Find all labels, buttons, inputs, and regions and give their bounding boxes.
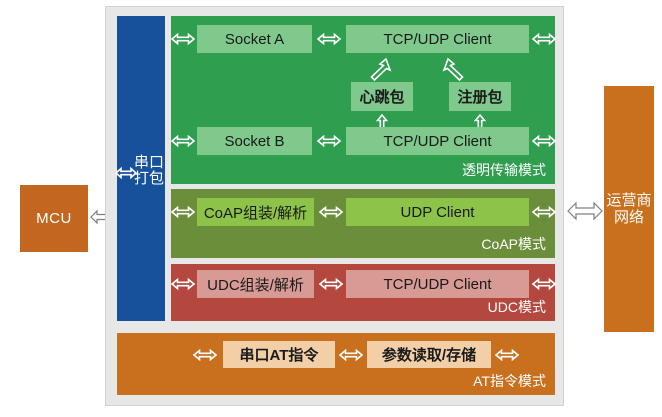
arrow-client-top-to-network — [532, 32, 556, 46]
panel-transparent-mode: Socket A TCP/UDP Client — [171, 16, 555, 184]
serial-label-line1: 串口 — [134, 155, 164, 171]
udc-mode-label: UDC模式 — [488, 297, 546, 317]
arrow-client-to-heartbeat — [367, 57, 393, 83]
mcu-label: MCU — [36, 210, 72, 227]
arrow-udp-client-to-network — [532, 205, 556, 219]
panel-coap-mode: CoAP组装/解析 UDP Client CoAP模式 — [171, 189, 555, 258]
at-mode-label: AT指令模式 — [473, 371, 546, 391]
coap-mode-label: CoAP模式 — [481, 234, 546, 254]
arrow-module-to-operator — [567, 199, 603, 223]
heartbeat-packet-box[interactable]: 心跳包 — [351, 82, 413, 111]
operator-network-node: 运营商 网络 — [604, 86, 654, 332]
tcp-udp-client-udc-label: TCP/UDP Client — [383, 276, 491, 293]
register-packet-box[interactable]: 注册包 — [449, 82, 511, 111]
serial-label-line2: 打包 — [134, 171, 164, 187]
udp-client-label: UDP Client — [401, 204, 475, 221]
tcp-udp-client-top-box[interactable]: TCP/UDP Client — [346, 25, 529, 53]
udp-client-box[interactable]: UDP Client — [346, 198, 529, 226]
tcp-udp-client-udc-box[interactable]: TCP/UDP Client — [346, 270, 529, 298]
arrow-param-out — [495, 348, 519, 362]
socket-b-label: Socket B — [224, 133, 284, 150]
tcp-udp-client-bottom-label: TCP/UDP Client — [383, 133, 491, 150]
panel-udc-mode: UDC组装/解析 TCP/UDP Client UDC模式 — [171, 264, 555, 321]
arrow-socket-a-to-client — [317, 32, 341, 46]
arrow-udc-to-client — [319, 277, 343, 291]
param-read-store-box[interactable]: 参数读取/存储 — [367, 341, 491, 368]
serial-packaging-column: 串口 打包 — [117, 16, 165, 321]
coap-assemble-parse-label: CoAP组装/解析 — [204, 202, 307, 223]
arrow-serial-to-socket-b — [171, 134, 195, 148]
arrow-serial-to-socket-a — [171, 32, 195, 46]
mcu-node: MCU — [20, 185, 88, 252]
operator-network-label-line2: 网络 — [614, 209, 644, 226]
arrow-socket-b-to-client — [317, 134, 341, 148]
param-read-store-label: 参数读取/存储 — [382, 344, 476, 365]
socket-b-box[interactable]: Socket B — [197, 127, 312, 155]
udc-assemble-parse-label: UDC组装/解析 — [207, 274, 304, 295]
heartbeat-packet-label: 心跳包 — [359, 86, 404, 107]
transparent-mode-label: 透明传输模式 — [462, 160, 546, 180]
serial-at-command-label: 串口AT指令 — [240, 344, 319, 365]
tcp-udp-client-bottom-box[interactable]: TCP/UDP Client — [346, 127, 529, 155]
tcp-udp-client-top-label: TCP/UDP Client — [383, 31, 491, 48]
udc-assemble-parse-box[interactable]: UDC组装/解析 — [197, 270, 314, 298]
arrow-serial-to-coap — [171, 205, 195, 219]
socket-a-label: Socket A — [225, 31, 284, 48]
arrow-serial-to-udc — [171, 277, 195, 291]
coap-assemble-parse-box[interactable]: CoAP组装/解析 — [197, 198, 314, 226]
panel-at-mode: 串口AT指令 参数读取/存储 AT指令模式 — [117, 333, 555, 395]
serial-column-label: 串口 打包 — [134, 155, 164, 187]
register-packet-label: 注册包 — [457, 86, 502, 107]
arrow-at-command-to-param — [339, 348, 363, 362]
arrow-client-bottom-to-network — [532, 134, 556, 148]
arrow-udc-client-to-network — [532, 277, 556, 291]
arrow-coap-to-udp-client — [319, 205, 343, 219]
diagram-canvas: MCU 串口 打包 Socket A — [0, 0, 662, 417]
serial-at-command-box[interactable]: 串口AT指令 — [223, 341, 335, 368]
socket-a-box[interactable]: Socket A — [197, 25, 312, 53]
arrow-to-at-command — [193, 348, 217, 362]
serial-inner-arrow-icon — [115, 166, 137, 180]
arrow-client-to-register — [441, 57, 467, 83]
operator-network-label-line1: 运营商 — [606, 192, 651, 209]
